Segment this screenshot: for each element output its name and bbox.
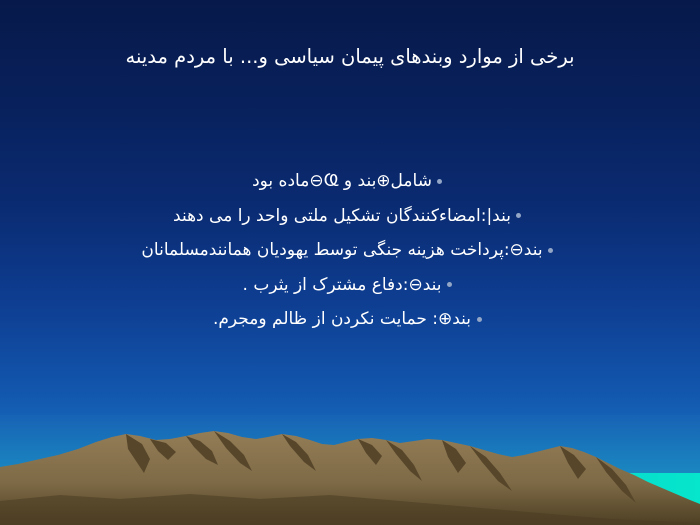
bullet-dot-icon [442,272,458,298]
slide-title-placeholder: برخی از موارد وبندهای پیمان سیاسی و... ب… [26,44,674,69]
list-item-label: بند⊕: حمایت نکردن از ظالم ومجرم. [213,306,471,332]
list-item: شامل⊕بند و Ҩ⊖ماده بود [22,168,678,194]
bullet-dot-icon [511,203,527,229]
bullet-dot-icon [432,168,448,194]
list-item-label: بند⊖:پرداخت هزینه جنگی توسط یهودیان همان… [141,237,542,263]
slide-body-placeholder: شامل⊕بند و Ҩ⊖ماده بود بند|:امضاءکنندگان … [22,168,678,341]
bullet-dot-icon [543,237,559,263]
bullet-dot-icon [471,306,487,332]
list-item: بند|:امضاءکنندگان تشکیل ملتی واحد را می … [22,203,678,229]
list-item: بند⊕: حمایت نکردن از ظالم ومجرم. [22,306,678,332]
list-item-label: بند⊖:دفاع مشترک از یثرب . [243,272,442,298]
list-item: بند⊖:دفاع مشترک از یثرب . [22,272,678,298]
mountain-landscape-graphic [0,415,700,525]
slide-canvas: برخی از موارد وبندهای پیمان سیاسی و... ب… [0,0,700,525]
list-item: بند⊖:پرداخت هزینه جنگی توسط یهودیان همان… [22,237,678,263]
list-item-label: شامل⊕بند و Ҩ⊖ماده بود [252,168,432,194]
page-title: برخی از موارد وبندهای پیمان سیاسی و... ب… [26,44,674,69]
list-item-label: بند|:امضاءکنندگان تشکیل ملتی واحد را می … [173,203,511,229]
